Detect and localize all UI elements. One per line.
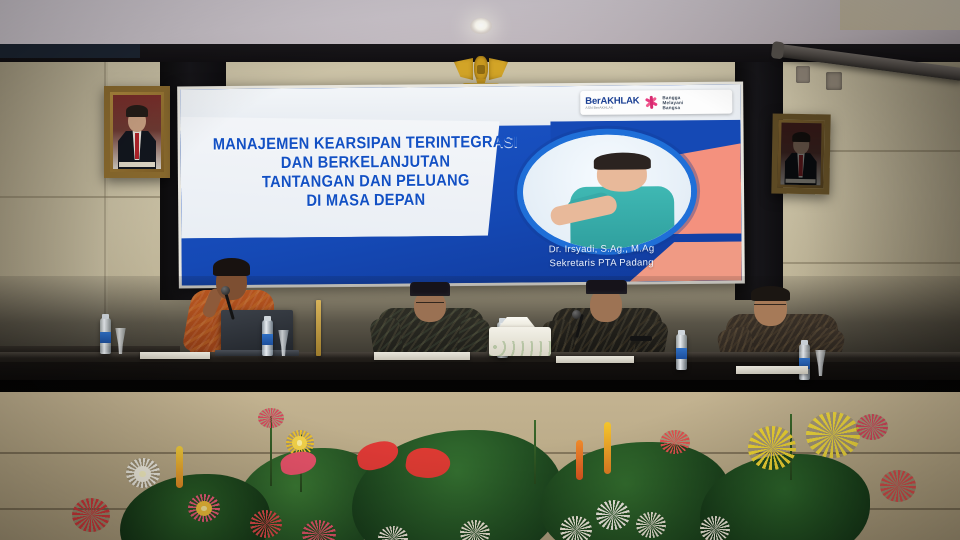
slide-speaker-role: Sekretaris PTA Padang <box>473 255 731 271</box>
document-papers[interactable] <box>140 352 210 359</box>
portrait-hair <box>792 132 810 142</box>
bangga-melayani-bangsa-icon <box>643 95 658 110</box>
framed-portrait-left <box>104 86 170 178</box>
badge-tagline-line-3: Bangsa <box>662 105 683 110</box>
microphone-base[interactable] <box>630 336 652 341</box>
wall-seam <box>0 196 180 198</box>
bloom-white-chrysanthemum <box>596 500 630 530</box>
panelist-2-eyeglasses <box>416 302 444 307</box>
speaker-photo-hair <box>593 153 650 171</box>
roller-end-cap <box>771 41 785 59</box>
laptop-base[interactable] <box>215 350 299 356</box>
panelist-1-hair <box>213 258 250 276</box>
water-bottle[interactable] <box>100 318 111 354</box>
garuda-wing-left <box>454 58 473 80</box>
document-papers[interactable] <box>374 352 470 360</box>
panelist-4-eyeglasses <box>754 304 786 309</box>
document-papers[interactable] <box>556 356 634 363</box>
slide-speaker-block: Dr. Irsyadi, S.Ag., M.Ag Sekretaris PTA … <box>473 242 731 271</box>
bloom-red-dahlia <box>72 498 110 532</box>
panelist-3-peci-cap <box>586 280 627 294</box>
microphone-head[interactable] <box>221 286 230 295</box>
portrait-image-right <box>780 123 821 186</box>
bloom-snapdragon <box>604 422 611 474</box>
bloom-red-carnation <box>660 430 690 454</box>
document-papers[interactable] <box>736 366 808 374</box>
portrait-tie <box>799 155 803 176</box>
bloom-yellow-lily <box>748 426 796 470</box>
bloom-red-dahlia <box>880 470 916 502</box>
bloom-red-dahlia <box>250 510 282 538</box>
bloom-white-chrysanthemum <box>700 516 730 540</box>
slide-title-line-4: DI MASA DEPAN <box>209 190 523 212</box>
table-nameplate-stand <box>316 300 321 356</box>
bloom-center <box>134 466 151 482</box>
bloom-yellow-lily <box>806 412 860 458</box>
tissue-box-pattern <box>489 341 551 356</box>
bloom-white-chrysanthemum <box>636 512 666 538</box>
roller-bracket <box>796 66 810 83</box>
bloom-white-chrysanthemum <box>560 516 592 540</box>
panelist-4-hair <box>751 286 790 301</box>
slide-title: MANAJEMEN KEARSIPAN TERINTEGRASI DAN BER… <box>209 133 523 212</box>
wall-vent <box>826 72 842 90</box>
soffit-left-segment <box>0 44 140 58</box>
flower-arrangement <box>0 380 960 540</box>
panelist-2-peci-cap <box>410 282 450 296</box>
seminar-room-photo: MANAJEMEN KEARSIPAN TERINTEGRASI DAN BER… <box>0 0 960 540</box>
badge-tagline: Bangga Melayani Bangsa <box>662 95 683 110</box>
ceiling-right-edge <box>840 0 960 30</box>
microphone-head[interactable] <box>572 310 581 319</box>
ceiling-downlight <box>470 18 492 34</box>
bloom-pink-carnation <box>258 408 284 428</box>
portrait-nameplate <box>119 162 155 167</box>
speaker-photo-oval <box>517 128 698 255</box>
bloom-center <box>292 436 307 450</box>
garuda-wing-right <box>489 58 508 80</box>
portrait-tie <box>135 133 139 158</box>
framed-portrait-right <box>771 113 830 194</box>
bloom-pink-carnation <box>856 414 888 440</box>
bloom-snapdragon <box>576 440 583 480</box>
bloom-pink-gerbera <box>302 520 336 540</box>
flower-stem <box>534 420 536 484</box>
portrait-hair <box>126 105 147 117</box>
bloom-snapdragon <box>176 446 183 488</box>
berakhlak-badge: BerAKHLAK ASN BerAKHLAK Bangga Melayani … <box>580 90 732 115</box>
portrait-nameplate <box>785 179 815 184</box>
water-bottle[interactable] <box>799 344 810 380</box>
portrait-image-left <box>113 95 161 169</box>
slide-title-line-1: MANAJEMEN KEARSIPAN TERINTEGRASI <box>209 133 523 155</box>
bloom-white-chrysanthemum <box>460 520 490 540</box>
bloom-center <box>196 501 212 516</box>
water-bottle[interactable] <box>676 334 687 370</box>
water-bottle[interactable] <box>262 320 273 356</box>
garuda-shield <box>477 65 485 74</box>
berakhlak-wordmark-sub: ASN BerAKHLAK <box>585 106 639 110</box>
